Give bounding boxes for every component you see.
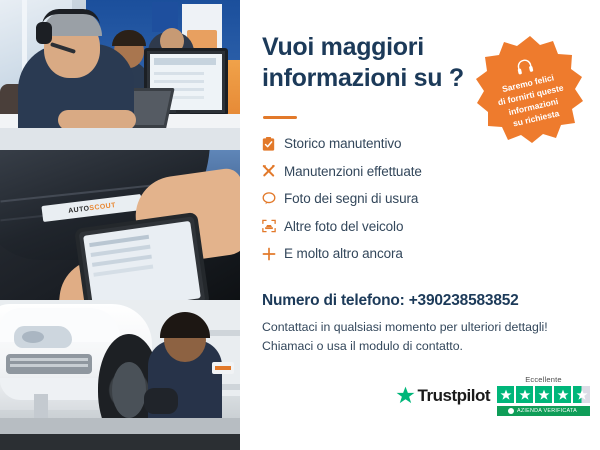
feature-item-foto-segni-usura[interactable]: Foto dei segni di usura [262, 185, 582, 213]
feature-item-molto-altro[interactable]: E molto altro ancora [262, 240, 582, 268]
star-filled-2 [516, 386, 533, 403]
page-title-line-1: Vuoi maggiori [262, 32, 482, 63]
phone-number-line[interactable]: Numero di telefono: +390238583852 [262, 292, 519, 310]
title-divider [263, 116, 297, 119]
photo-column: AUTOSCOUT [0, 0, 240, 450]
check-circle-icon [508, 408, 514, 414]
feature-label: Altre foto del veicolo [284, 219, 403, 234]
feature-label: Manutenzioni effettuate [284, 164, 422, 179]
photo-frame-car-icon [262, 219, 284, 233]
feature-item-storico-manutentivo[interactable]: Storico manutentivo [262, 130, 582, 158]
floor-decor [0, 434, 240, 450]
trustpilot-rating-label: Eccellente [525, 375, 562, 384]
mechanic-glove [144, 388, 178, 414]
tools-wrench-icon [262, 164, 284, 178]
headlight-decor [14, 326, 72, 348]
page-title: Vuoi maggiori informazioni su ? [262, 32, 482, 93]
star-filled-3 [535, 386, 552, 403]
trustpilot-star-icon [396, 386, 415, 405]
feature-label: Foto dei segni di usura [284, 191, 418, 206]
trustpilot-rating: Eccellente [497, 375, 590, 416]
lift-platform-decor [0, 418, 240, 434]
speech-bubble-icon [262, 192, 284, 205]
page-title-line-2: informazioni su ? [262, 63, 482, 94]
grille-decor [6, 354, 92, 374]
star-filled-4 [554, 386, 571, 403]
photo-wheel-inspection [0, 300, 240, 450]
vehicle-info-advertisement: AUTOSCOUT Vuoi maggio [0, 0, 600, 450]
trustpilot-widget[interactable]: Trustpilot Eccellente [396, 375, 590, 416]
feature-item-altre-foto-veicolo[interactable]: Altre foto del veicolo [262, 213, 582, 241]
content-panel: Vuoi maggiori informazioni su ? Saremo f… [240, 0, 600, 450]
contact-text: Contattaci in qualsiasi momento per ulte… [262, 318, 582, 356]
star-half-5 [573, 386, 590, 403]
trustpilot-name: Trustpilot [418, 386, 490, 406]
verified-business-badge: AZIENDA VERIFICATA [497, 406, 590, 416]
feature-label: Storico manutentivo [284, 136, 401, 151]
clipboard-check-icon [262, 137, 284, 151]
contact-text-line-1: Contattaci in qualsiasi momento per ulte… [262, 318, 582, 337]
photo-call-center [0, 0, 240, 150]
feature-label: E molto altro ancora [284, 246, 403, 261]
feature-item-manutenzioni-effettuate[interactable]: Manutenzioni effettuate [262, 158, 582, 186]
trustpilot-stars [497, 386, 590, 403]
desk-front-decor [0, 128, 240, 150]
contact-text-line-2: Chiamaci o usa il modulo di contatto. [262, 337, 582, 356]
star-filled-1 [497, 386, 514, 403]
trustpilot-logo: Trustpilot [396, 386, 490, 406]
verified-label: AZIENDA VERIFICATA [517, 408, 577, 414]
feature-list: Storico manutentivo Manutenzioni effettu… [262, 130, 582, 268]
plus-icon [262, 247, 284, 261]
agent-arm [58, 110, 136, 130]
mechanic-uniform-badge [212, 362, 234, 374]
headset-earcup-decor [36, 22, 52, 44]
photo-sticker-tablet: AUTOSCOUT [0, 150, 240, 300]
